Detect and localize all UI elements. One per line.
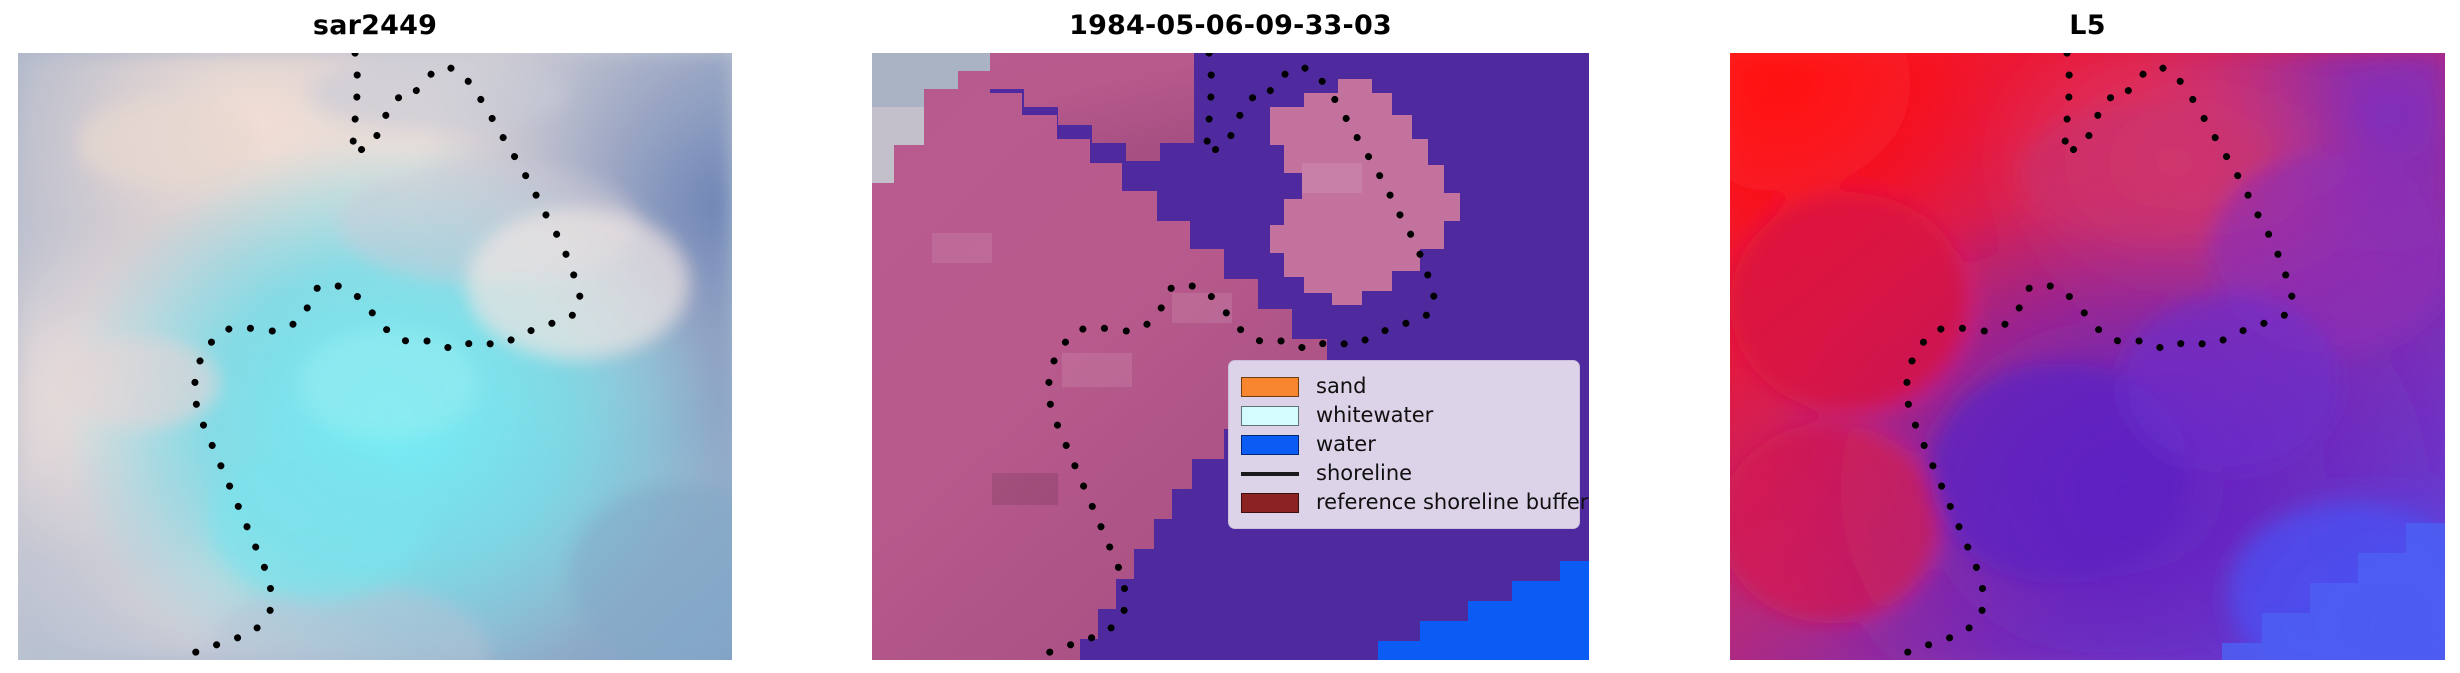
legend-label-shoreline: shoreline [1316,463,1412,484]
panel-image-classified[interactable]: sand whitewater water shoreline referenc… [872,53,1589,660]
legend-item-shoreline: shoreline [1241,459,1565,488]
classified-image [872,53,1589,660]
legend-label-water: water [1316,434,1376,455]
legend-label-whitewater: whitewater [1316,405,1433,426]
legend-label-sand: sand [1316,376,1366,397]
legend: sand whitewater water shoreline referenc… [1228,360,1580,529]
panel-image-sar[interactable] [18,53,732,660]
l5-composite-image [1730,53,2445,660]
sand-swatch-icon [1241,377,1299,397]
shoreline-line-icon [1241,464,1299,484]
reference-buffer-swatch-icon [1241,493,1299,513]
panel-title-classified: 1984-05-06-09-33-03 [872,8,1589,44]
figure-canvas: sar2449 [0,0,2460,673]
panel-image-l5[interactable] [1730,53,2445,660]
whitewater-swatch-icon [1241,406,1299,426]
legend-item-whitewater: whitewater [1241,401,1565,430]
legend-item-water: water [1241,430,1565,459]
panel-title-l5: L5 [1730,8,2445,44]
water-swatch-icon [1241,435,1299,455]
legend-label-reference-shoreline-buffer: reference shoreline buffer [1316,492,1588,513]
legend-item-sand: sand [1241,372,1565,401]
panel-title-sar: sar2449 [18,8,732,44]
sar-composite-image [18,53,732,660]
legend-item-reference-shoreline-buffer: reference shoreline buffer [1241,488,1565,517]
